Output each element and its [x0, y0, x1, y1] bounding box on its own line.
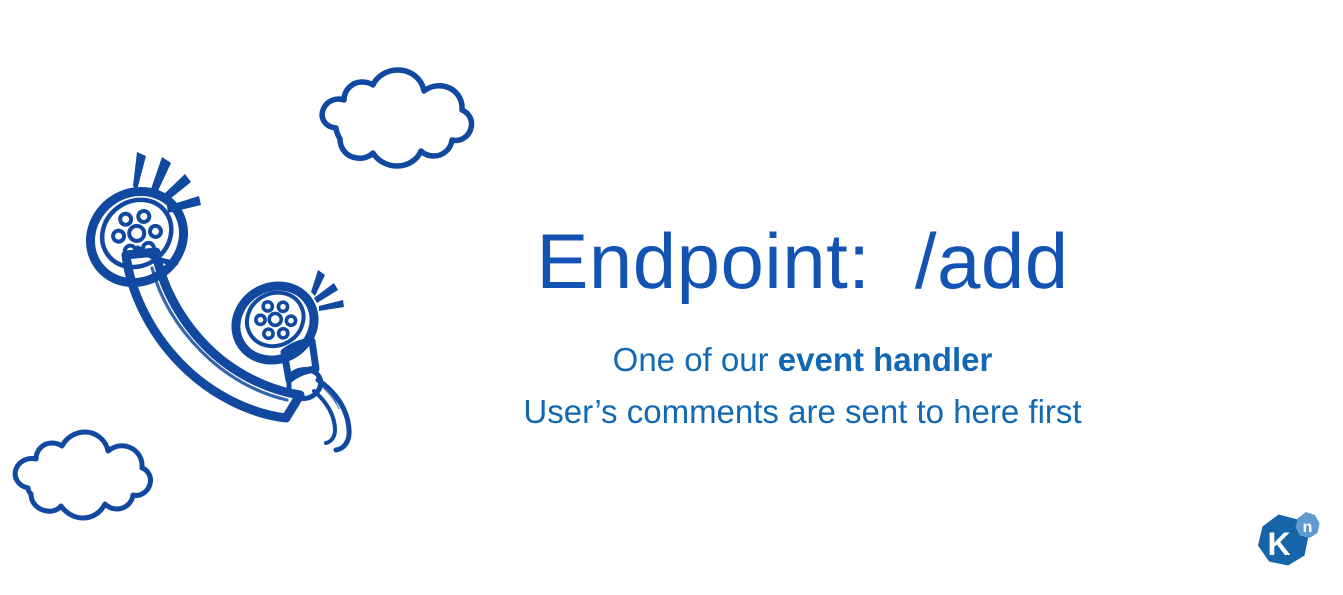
- kn-logo[interactable]: K n: [1249, 508, 1323, 582]
- slide-canvas: Endpoint: /add One of our event handler …: [0, 0, 1343, 595]
- subtitle-line-1-prefix: One of our: [613, 341, 778, 378]
- cloud-top-left-icon: [322, 70, 471, 166]
- subtitle-block: One of our event handler User’s comments…: [430, 334, 1175, 438]
- page-title: Endpoint: /add: [430, 222, 1175, 300]
- sound-lines-mouthpiece: [311, 270, 344, 311]
- subtitle-line-1: One of our event handler: [430, 334, 1175, 386]
- sound-lines-earpiece: [133, 152, 201, 213]
- logo-letter-n: n: [1303, 519, 1313, 536]
- subtitle-line-2: User’s comments are sent to here first: [430, 386, 1175, 438]
- telephone-handset-icon: [72, 152, 349, 450]
- text-block: Endpoint: /add One of our event handler …: [430, 222, 1175, 438]
- logo-letter-k: K: [1267, 526, 1290, 562]
- cloud-bottom-left-icon: [15, 432, 150, 518]
- subtitle-line-1-emphasis: event handler: [778, 341, 993, 378]
